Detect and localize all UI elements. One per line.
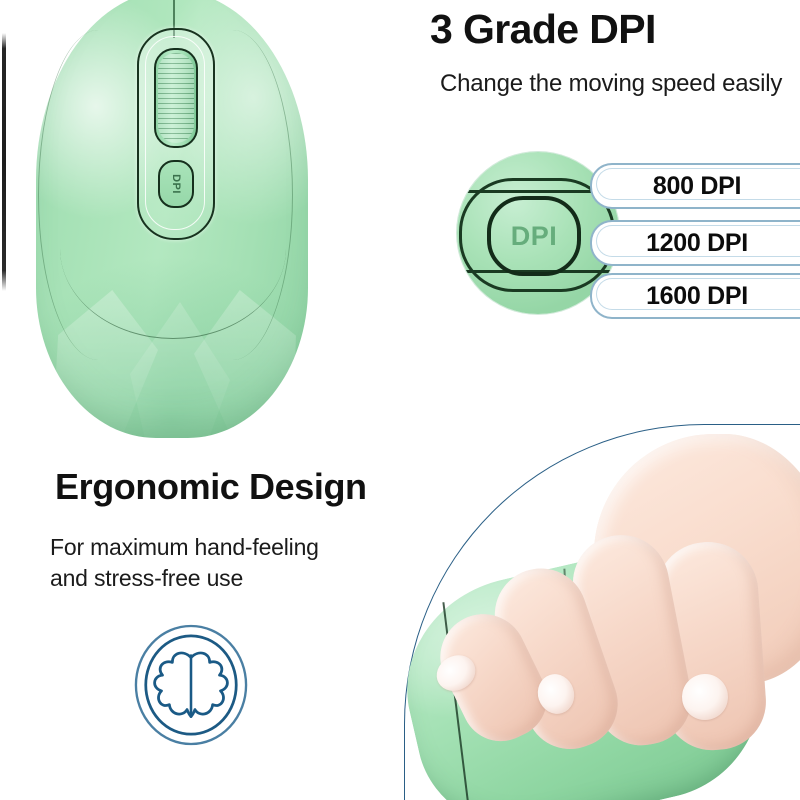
scroll-wheel-ridges (158, 53, 194, 143)
mouse-product-photo: DPI (24, 0, 324, 450)
hand-on-mouse-photo (398, 416, 800, 800)
dpi-level-label: 1600 DPI (646, 282, 748, 311)
product-feature-graphic: DPI 3 Grade DPI Change the moving speed … (0, 0, 800, 800)
dpi-magnifier-inner-ring: DPI (487, 196, 581, 276)
dpi-level-label: 800 DPI (653, 172, 741, 201)
ergonomic-body-line-2: and stress-free use (50, 563, 319, 594)
dpi-level-badge-1200: 1200 DPI (590, 220, 800, 266)
ergonomic-body-line-1: For maximum hand-feeling (50, 532, 319, 563)
dpi-level-label: 1200 DPI (646, 229, 748, 258)
left-edge-artifact (2, 33, 6, 291)
ergonomic-body: For maximum hand-feeling and stress-free… (50, 532, 319, 594)
dpi-heading: 3 Grade DPI (430, 6, 656, 53)
scroll-wheel (154, 48, 198, 148)
mouse-dpi-button-label: DPI (170, 174, 182, 194)
comfort-brain-icon (132, 622, 250, 748)
dpi-magnifier-label: DPI (511, 221, 558, 252)
mouse-dpi-button: DPI (158, 160, 194, 208)
dpi-subheading: Change the moving speed easily (440, 70, 782, 98)
dpi-level-badge-1600: 1600 DPI (590, 273, 800, 319)
ergonomic-heading: Ergonomic Design (55, 466, 367, 508)
dpi-level-badge-800: 800 DPI (590, 163, 800, 209)
